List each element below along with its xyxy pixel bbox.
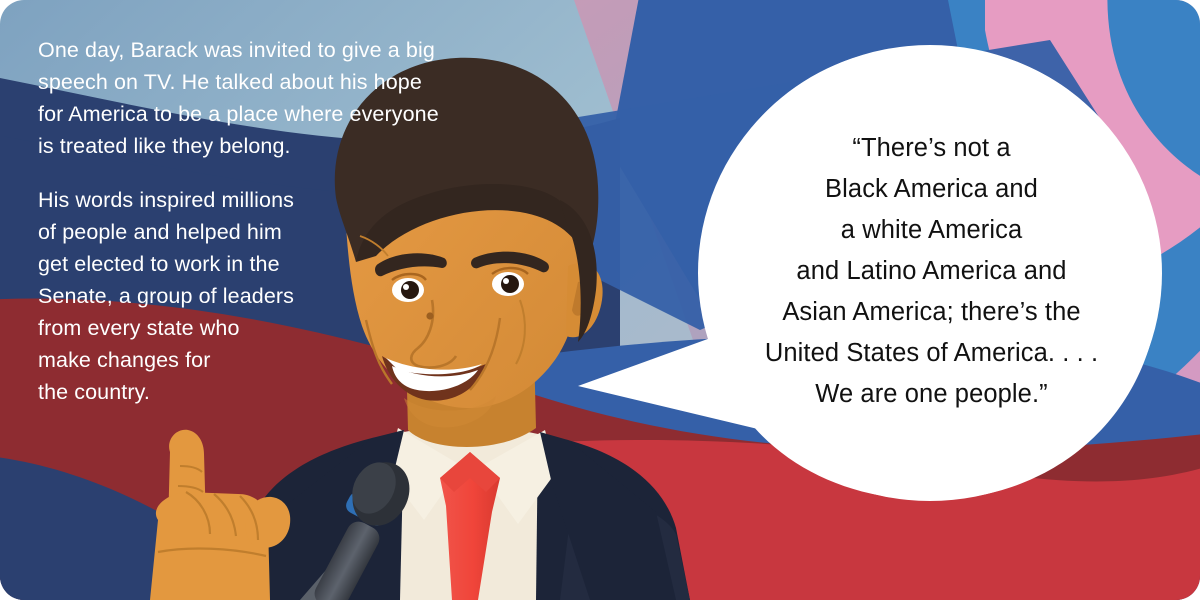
storybook-page: One day, Barack was invited to give a bi… — [0, 0, 1200, 600]
illustration-artwork — [0, 0, 1200, 600]
